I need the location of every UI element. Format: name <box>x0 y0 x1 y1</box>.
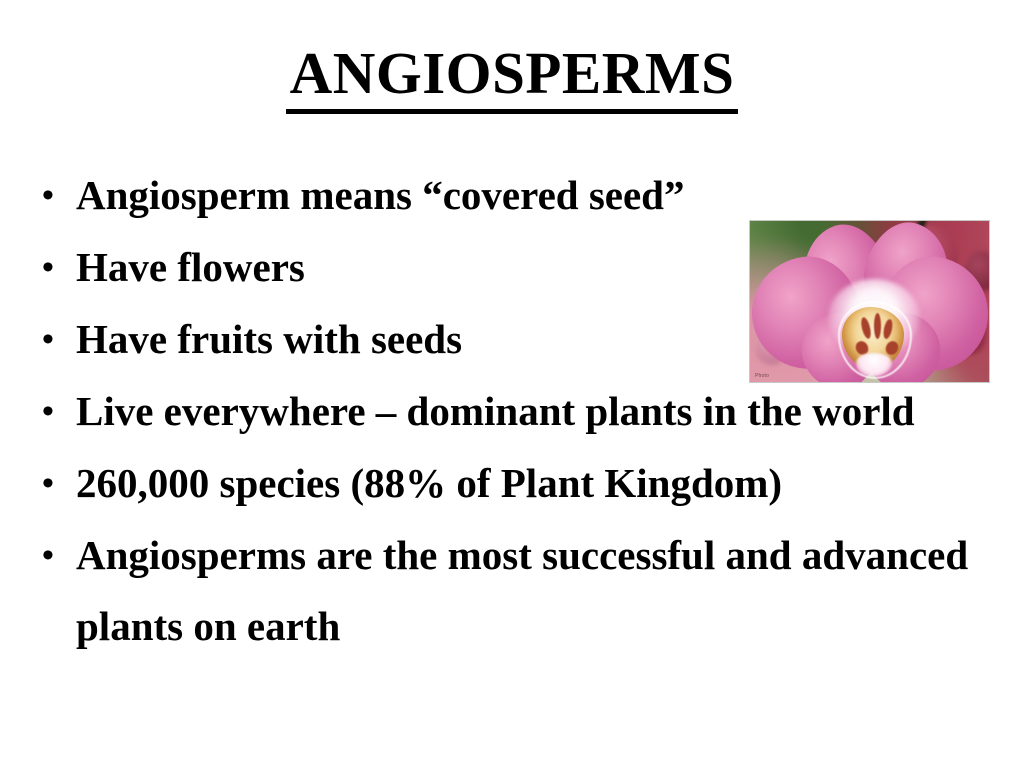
list-item: • Angiosperms are the most successful an… <box>34 520 994 662</box>
list-item-label: 260,000 species (88% of Plant Kingdom) <box>76 448 994 519</box>
bullet-icon: • <box>42 304 66 375</box>
photo-stage: Photo <box>750 221 989 382</box>
title-block: ANGIOSPERMS <box>0 44 1024 114</box>
slide-canvas: ANGIOSPERMS • Angiosperm means “covered … <box>0 0 1024 768</box>
bullet-icon: • <box>42 376 66 447</box>
bullet-icon: • <box>42 520 66 591</box>
list-item-label: Live everywhere – dominant plants in the… <box>76 376 994 447</box>
bullet-icon: • <box>42 448 66 519</box>
list-item: • 260,000 species (88% of Plant Kingdom) <box>34 448 994 519</box>
list-item-label: Angiosperms are the most successful and … <box>76 520 994 662</box>
pink-orchid-photo: Photo <box>749 220 990 383</box>
list-item: • Live everywhere – dominant plants in t… <box>34 376 994 447</box>
page-title: ANGIOSPERMS <box>286 44 739 114</box>
bullet-icon: • <box>42 160 66 231</box>
bullet-icon: • <box>42 232 66 303</box>
photo-watermark: Photo <box>755 373 769 379</box>
